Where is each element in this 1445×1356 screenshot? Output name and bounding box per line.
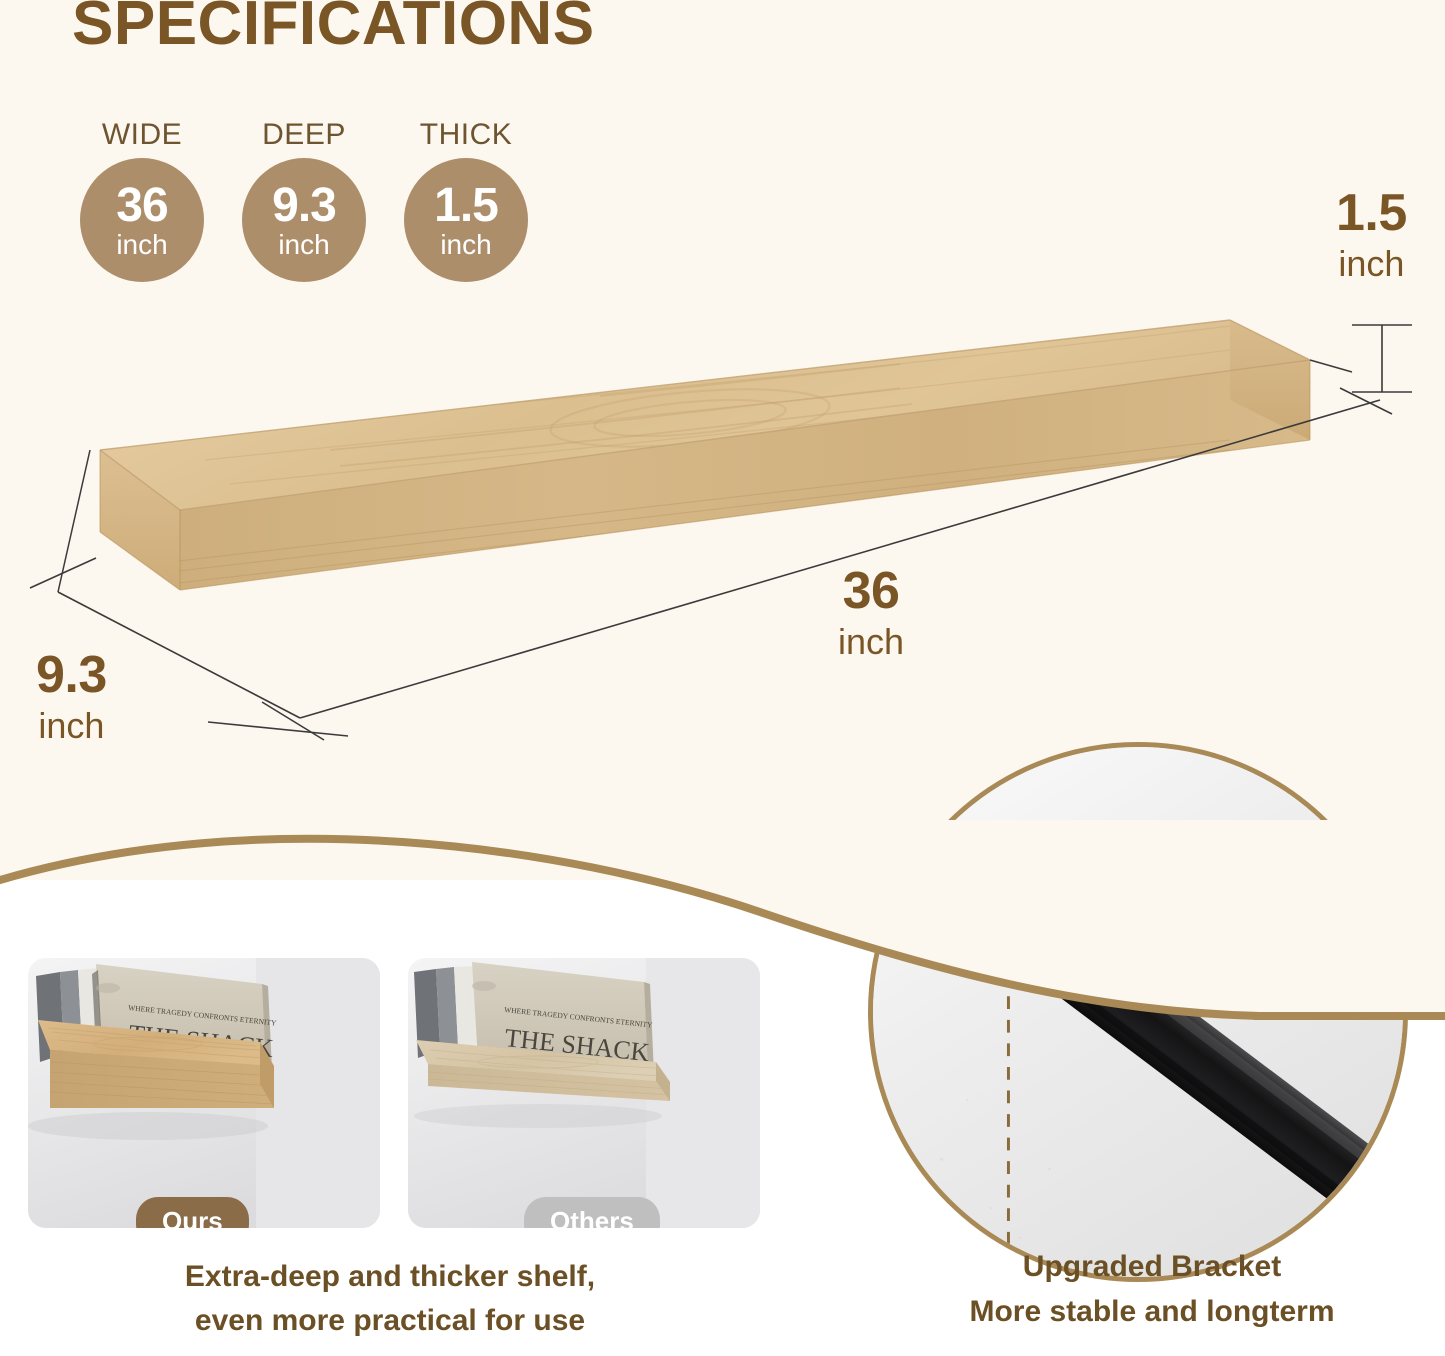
spec-badge-label: WIDE xyxy=(102,118,182,152)
dimension-value: 9.3 xyxy=(36,648,107,703)
wave-divider xyxy=(0,820,1445,1080)
dimension-value: 36 xyxy=(838,564,904,619)
spec-badge-label: THICK xyxy=(420,118,513,152)
dimension-unit: inch xyxy=(1336,245,1407,283)
page-title: SPECIFICATIONS xyxy=(72,0,595,59)
comparison-caption-line2: even more practical for use xyxy=(195,1304,585,1337)
dimension-unit: inch xyxy=(36,707,107,745)
comparison-badge-others: Others xyxy=(524,1197,660,1228)
dimension-unit: inch xyxy=(838,623,904,661)
spec-badge-label: DEEP xyxy=(262,118,346,152)
dimension-value: 1.5 xyxy=(1336,186,1407,241)
bracket-caption-line2: More stable and longterm xyxy=(862,1289,1442,1334)
bracket-caption-line1: Upgraded Bracket xyxy=(862,1244,1442,1289)
dimension-callout-depth: 9.3 inch xyxy=(36,648,107,744)
comparison-caption-line1: Extra-deep and thicker shelf, xyxy=(185,1260,595,1293)
dimension-callout-width: 36 inch xyxy=(838,564,904,660)
bracket-caption: Upgraded Bracket More stable and longter… xyxy=(862,1244,1442,1334)
dimension-callout-thickness: 1.5 inch xyxy=(1336,186,1407,282)
shelf-3d-illustration xyxy=(0,150,1400,750)
comparison-badge-ours: Ours xyxy=(136,1197,249,1228)
wave-cream-fill xyxy=(0,820,1445,1016)
comparison-caption: Extra-deep and thicker shelf, even more … xyxy=(0,1255,780,1342)
